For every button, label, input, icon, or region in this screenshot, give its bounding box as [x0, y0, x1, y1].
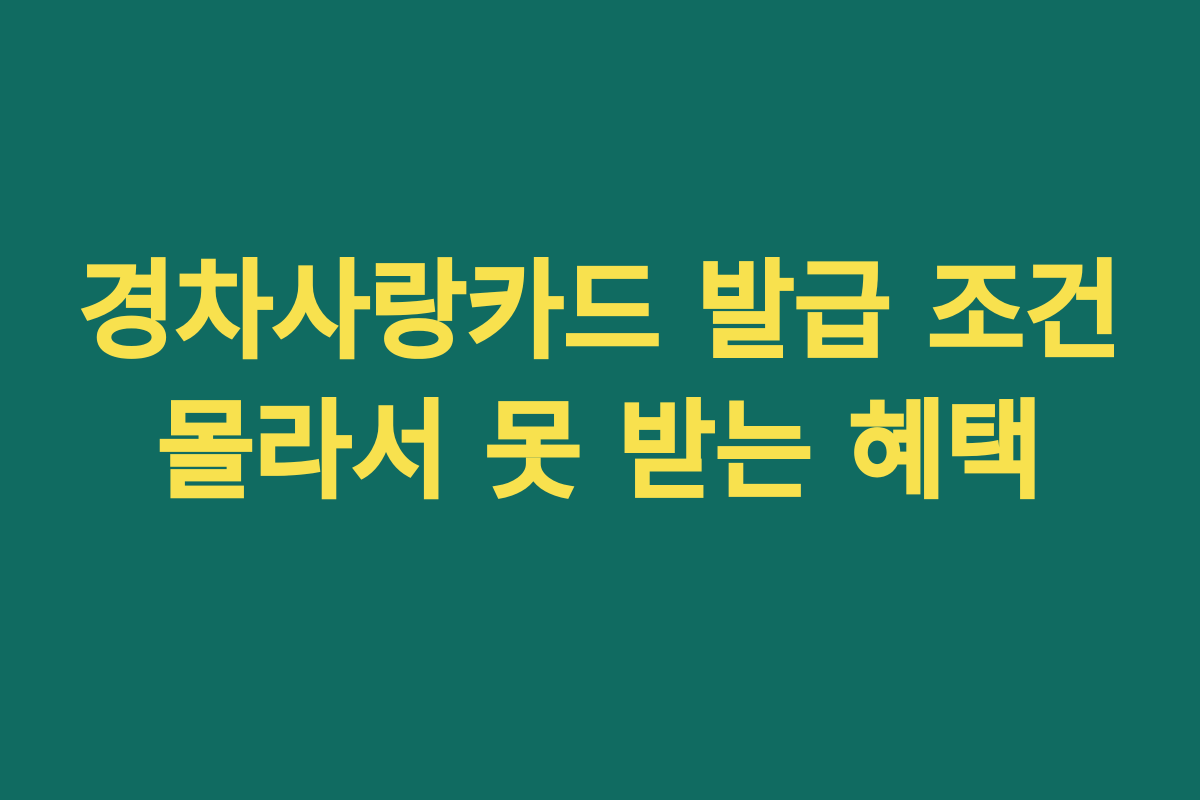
headline-line-1: 경차사랑카드 발급 조건 — [0, 242, 1200, 382]
headline-line-2: 몰라서 못 받는 혜택 — [0, 382, 1200, 522]
headline-block: 경차사랑카드 발급 조건 몰라서 못 받는 혜택 — [0, 242, 1200, 522]
banner-canvas: 경차사랑카드 발급 조건 몰라서 못 받는 혜택 — [0, 0, 1200, 800]
